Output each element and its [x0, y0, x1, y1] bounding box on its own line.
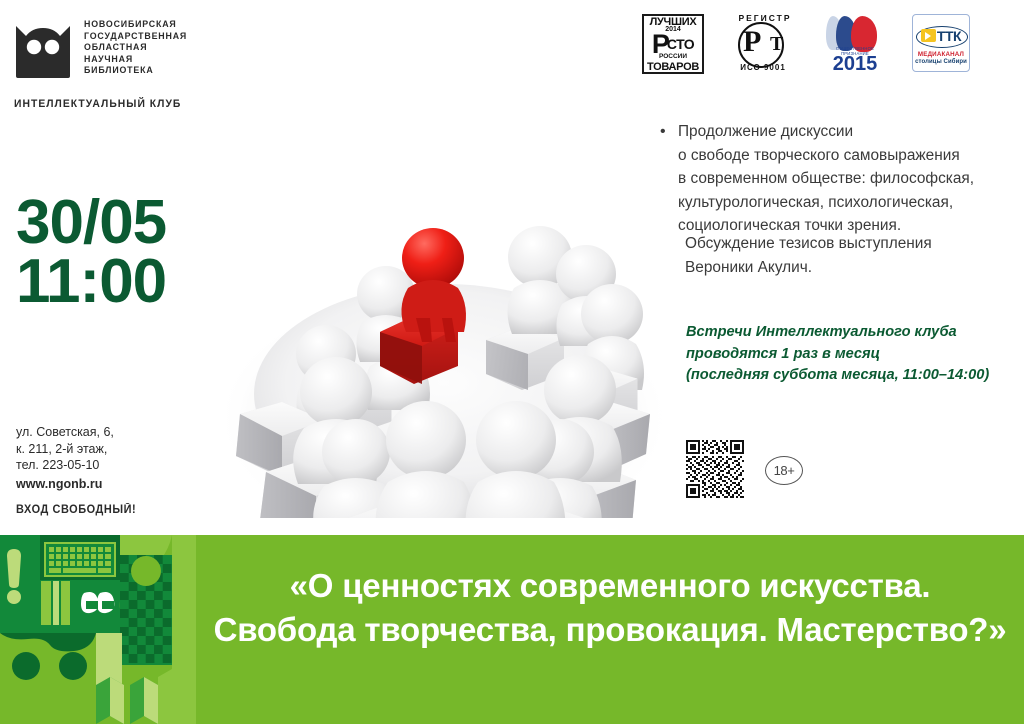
- profile-faces-icon: ОБЩЕСТВЕННОЕ ПРИЗНАНИЕ 2015: [824, 14, 890, 76]
- badge1-country: РОССИИ: [645, 53, 701, 60]
- badge4-line1: МЕДИАКАНАЛ: [918, 51, 964, 58]
- age-rating-badge: 18+: [765, 456, 803, 485]
- poster-canvas: НОВОСИБИРСКАЯ ГОСУДАРСТВЕННАЯ ОБЛАСТНАЯ …: [0, 0, 1024, 724]
- year-2015-badge: ОБЩЕСТВЕННОЕ ПРИЗНАНИЕ 2015: [824, 14, 890, 76]
- contact-phone: тел. 223-05-10: [16, 457, 114, 474]
- frequency-line-2: проводятся 1 раз в месяц: [686, 344, 1016, 366]
- decorative-pattern: [0, 535, 196, 724]
- rst-iso-badge: РЕГИСТР Р Т ИСО 9001: [726, 14, 802, 72]
- event-datetime: 30/05 11:00: [16, 193, 166, 311]
- event-time: 11:00: [16, 252, 166, 311]
- description-line-4: культурологическая, психологическая,: [678, 191, 974, 215]
- description-bullet: • Продолжение дискуссии о свободе творче…: [660, 120, 1010, 238]
- contact-block: ул. Советская, 6, к. 211, 2-й этаж, тел.…: [16, 424, 114, 492]
- badge2-glyph-left: Р: [743, 27, 761, 57]
- badge1-word: СТО: [667, 36, 694, 52]
- certification-badges: ЛУЧШИХ 2014 Р СТО РОССИИ ТОВАРОВ РЕГИСТР…: [642, 14, 970, 76]
- hundred-best-goods-badge: ЛУЧШИХ 2014 Р СТО РОССИИ ТОВАРОВ: [642, 14, 704, 74]
- description-line-3: в современном обществе: философская,: [678, 167, 974, 191]
- contact-website[interactable]: www.ngonb.ru: [16, 476, 114, 493]
- badge4-line2: столицы Сибири: [915, 59, 967, 65]
- library-name-line-1: НОВОСИБИРСКАЯ: [84, 19, 187, 31]
- contact-street: ул. Советская, 6,: [16, 424, 114, 441]
- event-title: «О ценностях современного искусства. Сво…: [196, 535, 1024, 724]
- event-title-line-1: «О ценностях современного искусства.: [290, 564, 931, 608]
- qr-code-icon[interactable]: [686, 440, 744, 498]
- badge2-bottom-text: ИСО 9001: [732, 63, 794, 72]
- library-name-line-4: НАУЧНАЯ: [84, 54, 187, 66]
- bullet-marker: •: [660, 120, 678, 238]
- description-text: Продолжение дискуссии о свободе творческ…: [678, 120, 974, 238]
- event-title-line-2: Свобода творчества, провокация. Мастерст…: [214, 608, 1007, 652]
- ttk-badge: ТТК МЕДИАКАНАЛ столицы Сибири: [912, 14, 970, 72]
- rst-certification-icon: РЕГИСТР Р Т ИСО 9001: [726, 14, 802, 72]
- description-line-2: о свободе творческого самовыражения: [678, 144, 974, 168]
- library-name-line-3: ОБЛАСТНАЯ: [84, 42, 187, 54]
- meeting-frequency: Встречи Интеллектуального клуба проводят…: [686, 322, 1016, 387]
- section-label: ИНТЕЛЛЕКТУАЛЬНЫЙ КЛУБ: [14, 98, 181, 110]
- frequency-line-1: Встречи Интеллектуального клуба: [686, 322, 1016, 344]
- speaker-note-line-1: Обсуждение тезисов выступления: [685, 232, 1015, 256]
- speaker-note-line-2: Вероники Акулич.: [685, 256, 1015, 280]
- library-name-line-5: БИБЛИОТЕКА: [84, 65, 187, 77]
- badge1-bottom-text: ТОВАРОВ: [645, 61, 701, 73]
- speaker-note: Обсуждение тезисов выступления Вероники …: [685, 232, 1015, 279]
- ttk-media-icon: ТТК МЕДИАКАНАЛ столицы Сибири: [912, 14, 970, 72]
- contact-room: к. 211, 2-й этаж,: [16, 441, 114, 458]
- event-date: 30/05: [16, 193, 166, 252]
- badge3-year: 2015: [824, 53, 886, 76]
- free-entry-label: ВХОД СВОБОДНЫЙ!: [16, 504, 136, 516]
- play-icon: [921, 29, 936, 42]
- library-logo-block: НОВОСИБИРСКАЯ ГОСУДАРСТВЕННАЯ ОБЛАСТНАЯ …: [14, 14, 196, 78]
- badge4-brand: ТТК: [937, 28, 961, 44]
- description-line-1: Продолжение дискуссии: [678, 120, 974, 144]
- badge2-glyph-right: Т: [770, 34, 783, 54]
- discussion-circle-3d-illustration: [208, 118, 678, 518]
- frequency-line-3: (последняя суббота месяца, 11:00–14:00): [686, 365, 1016, 387]
- library-name-line-2: ГОСУДАРСТВЕННАЯ: [84, 31, 187, 43]
- bottom-banner: «О ценностях современного искусства. Сво…: [0, 535, 1024, 724]
- library-name: НОВОСИБИРСКАЯ ГОСУДАРСТВЕННАЯ ОБЛАСТНАЯ …: [84, 14, 196, 77]
- owl-logo-icon: [14, 14, 72, 78]
- hundred-best-goods-icon: ЛУЧШИХ 2014 Р СТО РОССИИ ТОВАРОВ: [642, 14, 704, 74]
